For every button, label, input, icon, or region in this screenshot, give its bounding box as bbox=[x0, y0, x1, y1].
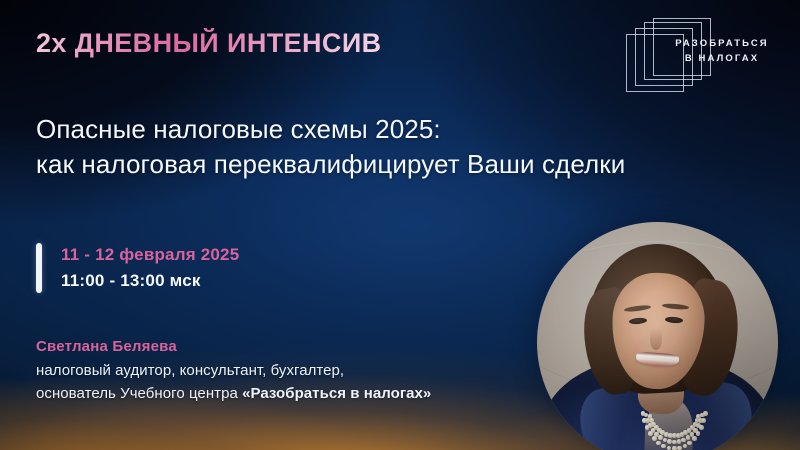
brand-logo-line1: РАЗОБРАТЬСЯ bbox=[675, 38, 768, 49]
kicker-heading: 2х ДНЕВНЫЙ ИНТЕНСИВ bbox=[36, 28, 382, 59]
schedule-lines: 11 - 12 февраля 2025 11:00 - 13:00 мск bbox=[61, 243, 239, 293]
speaker-block: Светлана Беляева налоговый аудитор, конс… bbox=[36, 336, 556, 405]
speaker-role-line-1: налоговый аудитор, консультант, бухгалте… bbox=[36, 362, 344, 379]
speaker-role-emphasis: «Разобраться в налогах» bbox=[242, 385, 431, 402]
promo-banner: 2х ДНЕВНЫЙ ИНТЕНСИВ РАЗОБРАТЬСЯ В НАЛОГА… bbox=[0, 0, 800, 450]
event-date: 11 - 12 февраля 2025 bbox=[61, 243, 239, 267]
brand-logo: РАЗОБРАТЬСЯ В НАЛОГАХ bbox=[626, 14, 774, 96]
schedule-block: 11 - 12 февраля 2025 11:00 - 13:00 мск bbox=[36, 243, 239, 293]
title-line-2: как налоговая переквалифицирует Ваши сде… bbox=[36, 147, 766, 182]
speaker-role: налоговый аудитор, консультант, бухгалте… bbox=[36, 359, 556, 405]
title-line-1: Опасные налоговые схемы 2025: bbox=[36, 114, 441, 144]
event-time: 11:00 - 13:00 мск bbox=[61, 269, 239, 293]
portrait-shading bbox=[537, 222, 778, 450]
speaker-name: Светлана Беляева bbox=[36, 336, 556, 357]
page-title: Опасные налоговые схемы 2025: как налого… bbox=[36, 112, 766, 182]
speaker-role-line-2: основатель Учебного центра «Разобраться … bbox=[36, 382, 556, 405]
portrait-photo bbox=[537, 222, 778, 450]
speaker-portrait bbox=[537, 222, 778, 450]
speaker-role-prefix: основатель Учебного центра bbox=[36, 385, 242, 402]
brand-logo-line2: В НАЛОГАХ bbox=[670, 51, 774, 66]
accent-bar bbox=[36, 243, 42, 293]
brand-logo-text: РАЗОБРАТЬСЯ В НАЛОГАХ bbox=[670, 36, 774, 66]
